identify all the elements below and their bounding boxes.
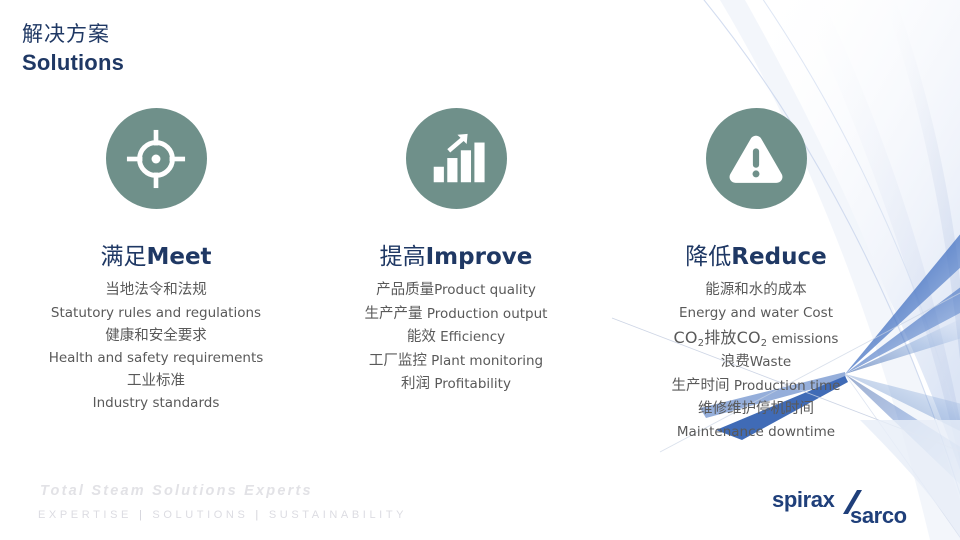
column-heading-meet-en: Meet xyxy=(146,244,211,270)
bullet-en: Profitability xyxy=(434,376,511,392)
bullet-line: 工业标准 xyxy=(49,370,264,393)
logo-word-spirax: spirax xyxy=(772,487,836,512)
column-bullets-improve: 产品质量Product quality 生产产量 Production outp… xyxy=(365,279,548,396)
spirax-sarco-logo: spirax sarco xyxy=(770,486,945,532)
bullet-en: Plant monitoring xyxy=(431,353,543,369)
footer-pillars: EXPERTISE|SOLUTIONS|SUSTAINABILITY xyxy=(38,509,407,521)
bullet-cn: 能源和水的成本 xyxy=(705,282,807,298)
column-bullets-meet: 当地法令和法规 Statutory rules and regulations … xyxy=(49,279,264,415)
logo-mark: spirax sarco xyxy=(770,486,945,532)
column-heading-improve-cn: 提高 xyxy=(380,244,426,270)
bullet-line: Health and safety requirements xyxy=(49,348,264,370)
column-improve: 提高Improve 产品质量Product quality 生产产量 Produ… xyxy=(306,108,606,397)
bullet-line: 利润 Profitability xyxy=(365,373,548,396)
bullet-line: CO2排放CO2 emissions xyxy=(672,325,841,352)
bullet-line: Industry standards xyxy=(49,393,264,415)
bullet-line: Maintenance downtime xyxy=(672,422,841,444)
solutions-columns: 满足Meet 当地法令和法规 Statutory rules and regul… xyxy=(0,108,960,444)
column-heading-reduce: 降低Reduce xyxy=(685,245,826,270)
bullet-cn: 健康和安全要求 xyxy=(105,328,207,344)
page-title-en: Solutions xyxy=(22,50,124,76)
bullet-line: Energy and water Cost xyxy=(672,303,841,325)
bullet-en: Production time xyxy=(734,378,841,394)
column-heading-reduce-en: Reduce xyxy=(731,244,826,270)
icon-badge-improve xyxy=(406,108,507,209)
warning-triangle-icon xyxy=(725,128,787,190)
bullet-line: 能源和水的成本 xyxy=(672,279,841,302)
footer-pillar-solutions: SOLUTIONS xyxy=(152,509,248,521)
footer-separator: | xyxy=(248,509,268,521)
footer-separator: | xyxy=(132,509,152,521)
bullet-cn: 生产时间 xyxy=(672,378,730,394)
bullet-line: 当地法令和法规 xyxy=(49,279,264,302)
bullet-en: Production output xyxy=(427,306,548,322)
bullet-en: Waste xyxy=(750,354,791,370)
bullet-cn: 能效 xyxy=(407,329,436,345)
column-heading-improve: 提高Improve xyxy=(380,245,533,270)
bullet-cn: 生产产量 xyxy=(365,306,423,322)
bullet-en: Statutory rules and regulations xyxy=(51,305,261,321)
page-title-cn: 解决方案 xyxy=(22,22,124,47)
bullet-en: Maintenance downtime xyxy=(677,424,835,440)
bullet-line: 产品质量Product quality xyxy=(365,279,548,302)
bullet-co2-en: CO2 xyxy=(737,328,768,347)
bullet-cn: 工厂监控 xyxy=(369,353,427,369)
bullet-line: 工厂监控 Plant monitoring xyxy=(365,350,548,373)
column-heading-reduce-cn: 降低 xyxy=(685,244,731,270)
column-heading-improve-en: Improve xyxy=(426,244,533,270)
bullet-line: 健康和安全要求 xyxy=(49,325,264,348)
bullet-co2-cn: CO2排放 xyxy=(674,328,737,347)
footer-pillar-expertise: EXPERTISE xyxy=(38,509,132,521)
bullet-line: 生产产量 Production output xyxy=(365,303,548,326)
page-title: 解决方案 Solutions xyxy=(22,22,124,76)
bullet-emissions: emissions xyxy=(767,331,838,347)
crosshair-target-icon xyxy=(125,128,187,190)
bullet-line: 维修维护停机时间 xyxy=(672,398,841,421)
bullet-en: Product quality xyxy=(434,282,536,298)
column-heading-meet-cn: 满足 xyxy=(100,244,146,270)
logo-word-sarco: sarco xyxy=(850,503,907,528)
bullet-cn: 维修维护停机时间 xyxy=(698,401,814,417)
column-bullets-reduce: 能源和水的成本 Energy and water Cost CO2排放CO2 e… xyxy=(672,279,841,443)
bullet-cn: 当地法令和法规 xyxy=(105,282,207,298)
bullet-line: 浪费Waste xyxy=(672,351,841,374)
bullet-cn: 利润 xyxy=(401,376,430,392)
column-reduce: 降低Reduce 能源和水的成本 Energy and water Cost C… xyxy=(606,108,906,444)
bullet-line: 能效 Efficiency xyxy=(365,326,548,349)
bar-chart-up-arrow-icon xyxy=(425,128,487,190)
bullet-line: 生产时间 Production time xyxy=(672,375,841,398)
column-meet: 满足Meet 当地法令和法规 Statutory rules and regul… xyxy=(6,108,306,415)
bullet-cn: 产品质量 xyxy=(376,282,434,298)
footer-tagline: Total Steam Solutions Experts xyxy=(40,483,313,499)
bullet-en: Health and safety requirements xyxy=(49,350,264,366)
bullet-en: Industry standards xyxy=(93,395,220,411)
icon-badge-meet xyxy=(106,108,207,209)
icon-badge-reduce xyxy=(706,108,807,209)
bullet-en: Energy and water Cost xyxy=(679,305,833,321)
footer-pillar-sustainability: SUSTAINABILITY xyxy=(269,509,407,521)
bullet-en: Efficiency xyxy=(440,329,505,345)
bullet-line: Statutory rules and regulations xyxy=(49,303,264,325)
column-heading-meet: 满足Meet xyxy=(100,245,211,270)
bullet-cn: 浪费 xyxy=(721,354,750,370)
bullet-cn: 工业标准 xyxy=(127,373,185,389)
slide-canvas: 解决方案 Solutions 满足Meet 当地法令和法规 St xyxy=(0,0,960,540)
